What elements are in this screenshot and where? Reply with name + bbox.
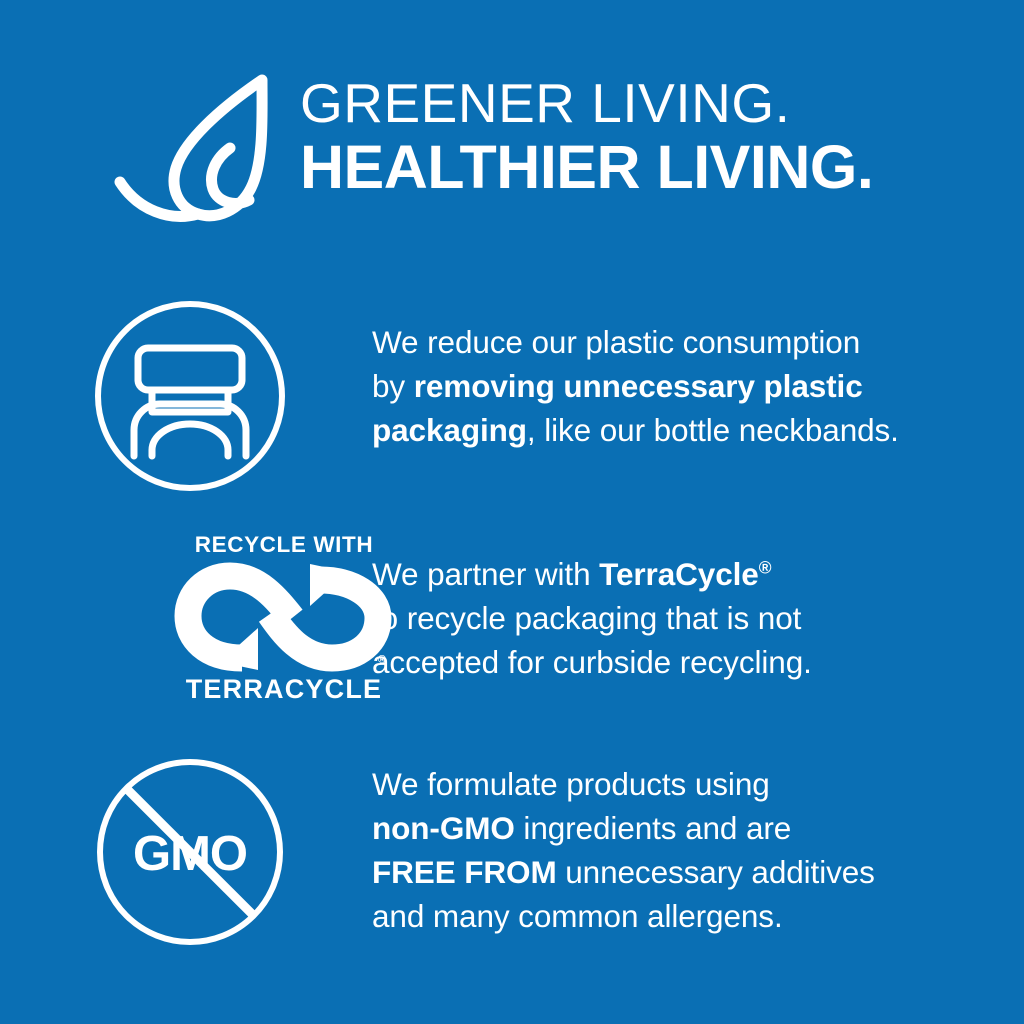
benefit-row-terracycle: RECYCLE WITH (0, 530, 1024, 720)
no-gmo-icon: GMO (90, 752, 300, 952)
copy-span: by (372, 368, 414, 404)
copy-line: by removing unnecessary plastic (372, 364, 972, 408)
copy-line: FREE FROM unnecessary additives (372, 850, 972, 894)
copy-span: accepted for curbside recycling. (372, 644, 812, 680)
benefit-copy-gmo: We formulate products using non-GMO ingr… (372, 762, 972, 938)
copy-line: We partner with TerraCycle® (372, 552, 972, 596)
terracycle-logo-bottom-text: TERRACYCLE (178, 674, 390, 704)
copy-line: We reduce our plastic consumption (372, 320, 972, 364)
benefit-copy-terracycle: We partner with TerraCycle® to recycle p… (372, 552, 972, 684)
copy-span: to recycle packaging that is not (372, 600, 801, 636)
headline-block: GREENER LIVING. HEALTHIER LIVING. (0, 62, 1024, 232)
copy-span: We partner with (372, 556, 599, 592)
copy-span-bold: FREE FROM (372, 854, 557, 890)
benefit-row-gmo: GMO We formulate products using non-GMO … (0, 752, 1024, 962)
copy-line: to recycle packaging that is not (372, 596, 972, 640)
copy-line: We formulate products using (372, 762, 972, 806)
leaf-icon (112, 70, 290, 230)
copy-span: We reduce our plastic consumption (372, 324, 860, 360)
copy-span: and many common allergens. (372, 898, 783, 934)
headline-line-2: HEALTHIER LIVING. (300, 134, 1000, 200)
copy-line: packaging, like our bottle neckbands. (372, 408, 972, 452)
copy-line: accepted for curbside recycling. (372, 640, 972, 684)
copy-span-bold: packaging (372, 412, 527, 448)
copy-span-bold: removing unnecessary plastic (414, 368, 863, 404)
greener-living-poster: GREENER LIVING. HEALTHIER LIVING. (0, 0, 1024, 1024)
copy-span: unnecessary additives (557, 854, 875, 890)
copy-span: ingredients and are (515, 810, 791, 846)
headline-line-1: GREENER LIVING. (300, 72, 1000, 134)
infinity-recycle-arrows-icon: ® (180, 562, 388, 670)
headline-text: GREENER LIVING. HEALTHIER LIVING. (300, 72, 1000, 200)
registered-trademark-mark: ® (759, 558, 772, 578)
no-gmo-label: GMO (133, 827, 247, 881)
benefit-copy-plastic: We reduce our plastic consumption by rem… (372, 320, 972, 452)
copy-line: non-GMO ingredients and are (372, 806, 972, 850)
copy-span-bold: non-GMO (372, 810, 515, 846)
copy-line: and many common allergens. (372, 894, 972, 938)
bottle-neckband-circle-icon (90, 296, 300, 496)
copy-span: We formulate products using (372, 766, 770, 802)
terracycle-logo-lockup: RECYCLE WITH (178, 532, 390, 710)
terracycle-logo: RECYCLE WITH (90, 530, 300, 730)
copy-span: , like our bottle neckbands. (527, 412, 899, 448)
benefit-row-plastic: We reduce our plastic consumption by rem… (0, 296, 1024, 496)
terracycle-logo-top-text: RECYCLE WITH (178, 532, 390, 558)
copy-span-bold: TerraCycle (599, 556, 759, 592)
